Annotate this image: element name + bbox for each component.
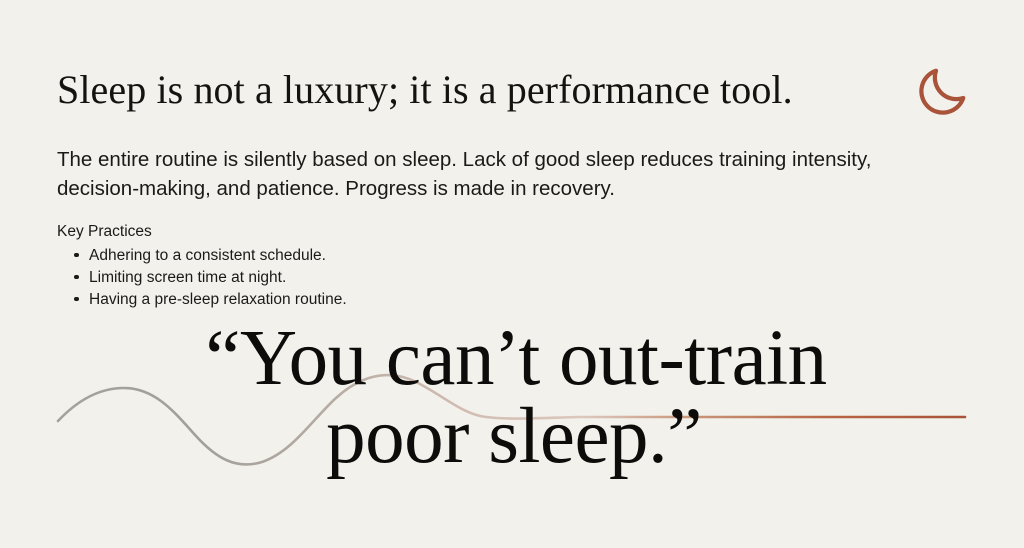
list-item-label: Having a pre-sleep relaxation routine. (89, 291, 347, 308)
list-item-label: Limiting screen time at night. (89, 269, 286, 286)
key-practices-title: Key Practices (57, 222, 577, 243)
bullet-icon (74, 275, 79, 280)
bullet-icon (74, 297, 79, 302)
list-item: Having a pre-sleep relaxation routine. (57, 289, 577, 311)
list-item: Adhering to a consistent schedule. (57, 245, 577, 267)
body-paragraph: The entire routine is silently based on … (57, 145, 902, 203)
bullet-icon (74, 253, 79, 258)
pull-quote-line-1: “You can’t out-train (0, 320, 1024, 398)
list-item-label: Adhering to a consistent schedule. (89, 247, 326, 264)
pull-quote: “You can’t out-train poor sleep.” (0, 320, 1024, 476)
slide-canvas: Sleep is not a luxury; it is a performan… (0, 0, 1024, 548)
crescent-moon-icon (912, 62, 972, 122)
page-title: Sleep is not a luxury; it is a performan… (57, 68, 887, 112)
pull-quote-line-2: poor sleep.” (0, 398, 1024, 476)
list-item: Limiting screen time at night. (57, 267, 577, 289)
key-practices-section: Key Practices Adhering to a consistent s… (57, 222, 577, 311)
key-practices-list: Adhering to a consistent schedule. Limit… (57, 245, 577, 311)
